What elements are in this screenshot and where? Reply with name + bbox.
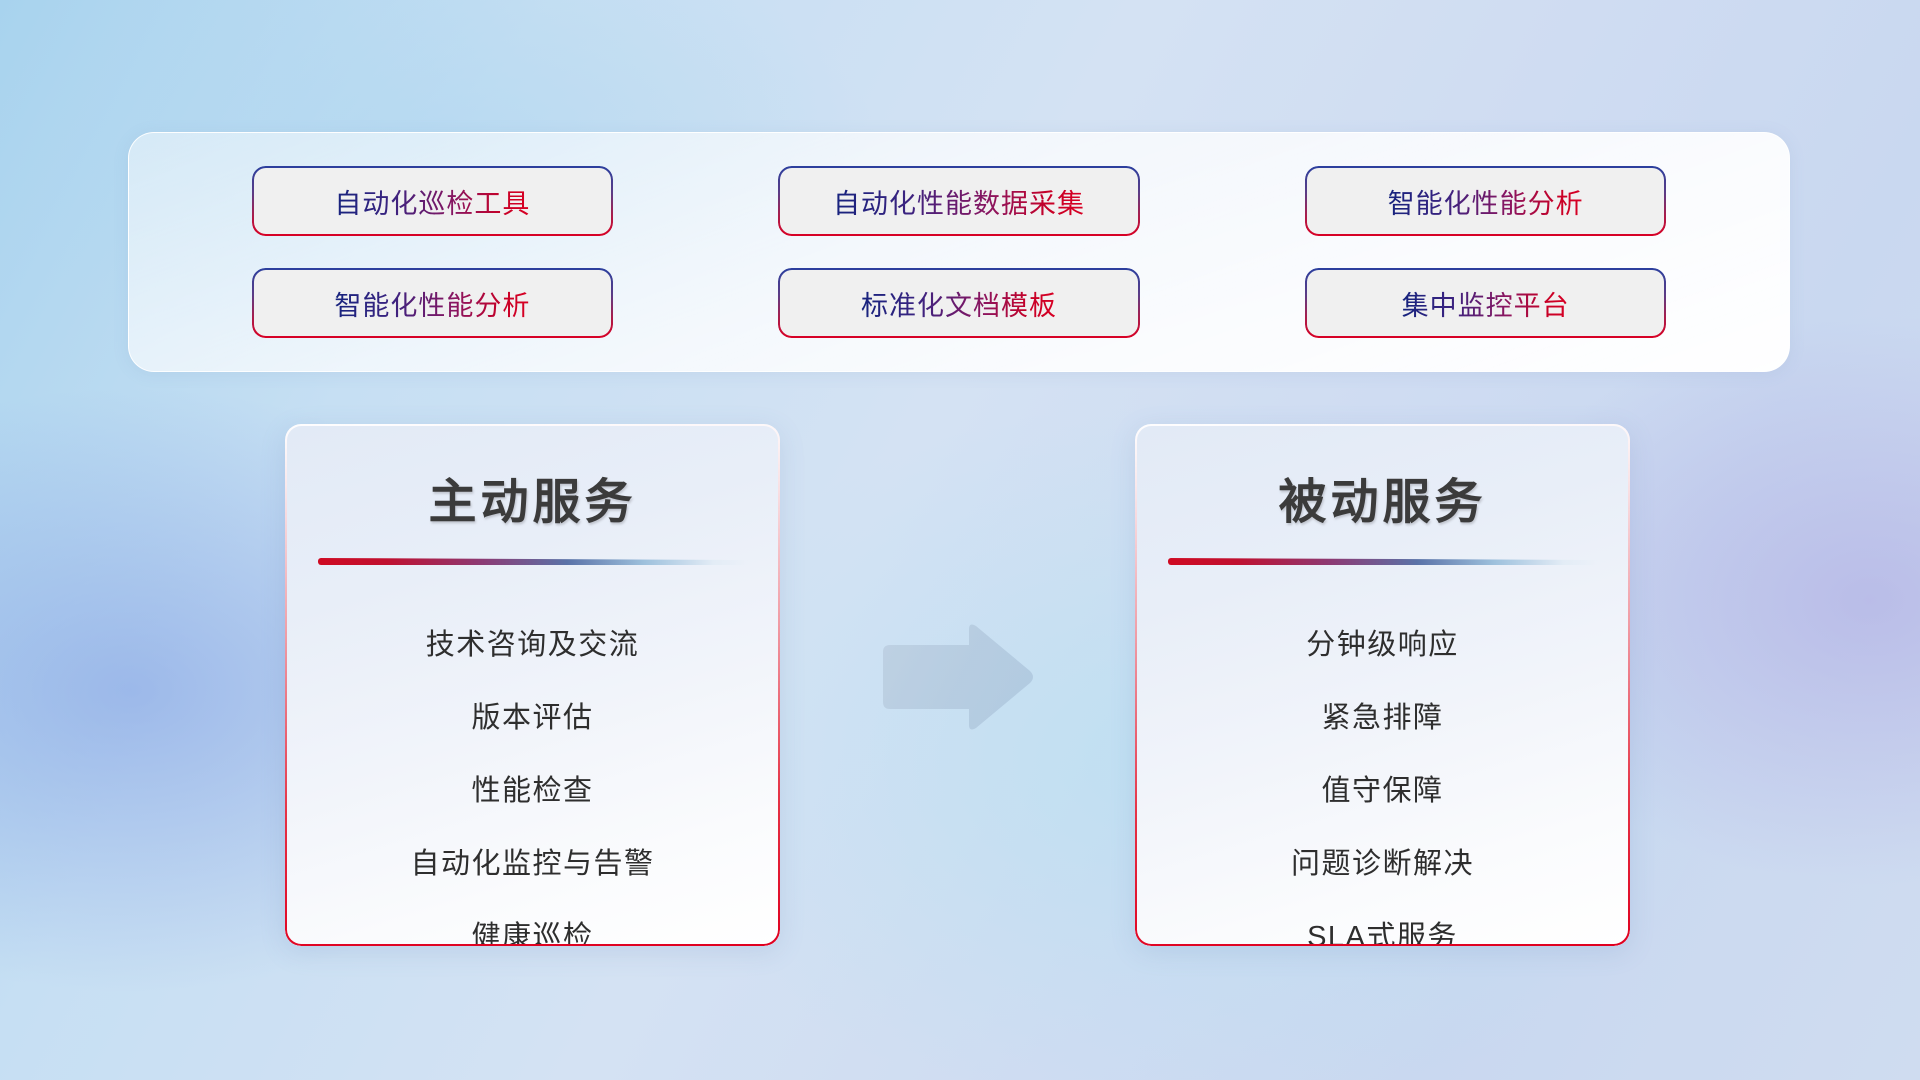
- list-item: 紧急排障: [1321, 682, 1443, 755]
- list-item: 健康巡检: [471, 901, 593, 946]
- flow-arrow-right-icon: [877, 622, 1037, 732]
- capability-pill-label: 自动化性能数据采集: [833, 182, 1085, 221]
- capability-pill-label: 智能化性能分析: [334, 284, 530, 323]
- list-item: 自动化监控与告警: [410, 828, 654, 901]
- capability-pill-label: 智能化性能分析: [1388, 182, 1584, 221]
- capability-pill-6[interactable]: 集中监控平台: [1307, 270, 1665, 336]
- passive-service-list: 分钟级响应 紧急排障 值守保障 问题诊断解决 SLA式服务: [1135, 609, 1630, 946]
- capabilities-panel: 自动化巡检工具 自动化性能数据采集 智能化性能分析 智能化性能分析 标准化文档模…: [128, 132, 1790, 372]
- list-item: 技术咨询及交流: [426, 609, 640, 682]
- capability-pill-label: 自动化巡检工具: [334, 182, 530, 221]
- passive-service-divider: [1168, 558, 1598, 565]
- passive-service-card: 被动服务 分钟级响应 紧急排障 值守保障 问题诊断解决 SLA式服务: [1135, 424, 1630, 946]
- capability-pill-label: 标准化文档模板: [861, 284, 1057, 323]
- active-service-card: 主动服务 技术咨询及交流 版本评估 性能检查 自动化监控与告警 健康巡检: [285, 424, 780, 946]
- capability-pill-3[interactable]: 智能化性能分析: [1307, 168, 1665, 234]
- list-item: 问题诊断解决: [1291, 828, 1474, 901]
- diagram-canvas: 自动化巡检工具 自动化性能数据采集 智能化性能分析 智能化性能分析 标准化文档模…: [0, 0, 1920, 1080]
- capability-pill-5[interactable]: 标准化文档模板: [780, 270, 1138, 336]
- capability-pill-label: 集中监控平台: [1402, 284, 1570, 323]
- capability-pill-2[interactable]: 自动化性能数据采集: [780, 168, 1138, 234]
- list-item: 版本评估: [471, 682, 593, 755]
- active-service-divider: [318, 558, 748, 565]
- capabilities-grid: 自动化巡检工具 自动化性能数据采集 智能化性能分析 智能化性能分析 标准化文档模…: [129, 133, 1789, 371]
- list-item: 分钟级响应: [1306, 609, 1459, 682]
- active-service-title: 主动服务: [285, 462, 780, 532]
- list-item: 性能检查: [471, 755, 593, 828]
- capability-pill-4[interactable]: 智能化性能分析: [253, 270, 611, 336]
- list-item: 值守保障: [1321, 755, 1443, 828]
- passive-service-title: 被动服务: [1135, 462, 1630, 532]
- capability-pill-1[interactable]: 自动化巡检工具: [253, 168, 611, 234]
- list-item: SLA式服务: [1307, 901, 1458, 946]
- active-service-list: 技术咨询及交流 版本评估 性能检查 自动化监控与告警 健康巡检: [285, 609, 780, 946]
